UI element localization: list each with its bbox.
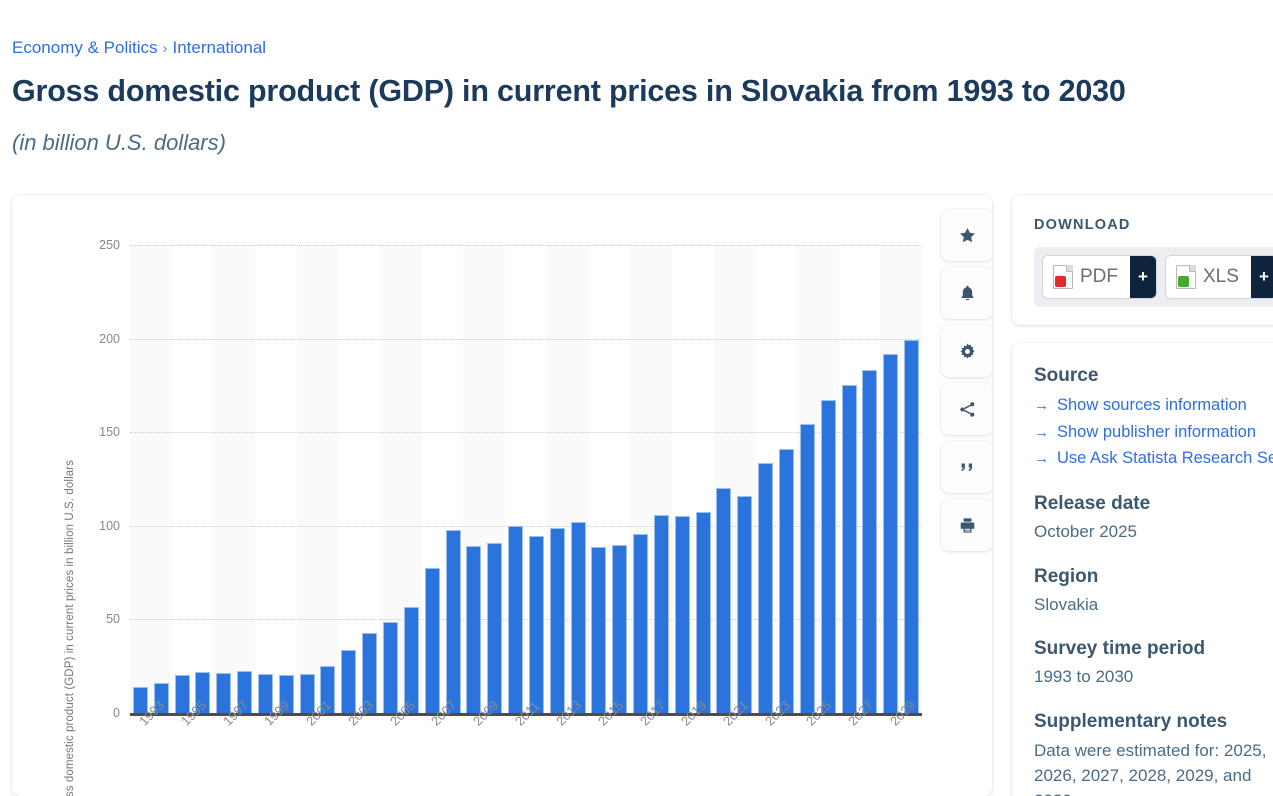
chart-bar[interactable] [675,516,690,713]
chart-bar[interactable] [466,546,481,713]
download-pdf-button[interactable]: PDF + [1043,256,1156,298]
plot-band [297,245,339,713]
print-button[interactable] [941,499,992,551]
chart-bar[interactable] [821,400,836,713]
chart-bar[interactable] [341,650,356,713]
share-button[interactable] [941,383,992,435]
quote-icon [958,458,977,477]
chart-bar[interactable] [487,543,502,713]
plot-band [130,245,172,713]
pdf-file-icon [1053,265,1073,289]
chart-bar[interactable] [716,488,731,713]
chart-bar[interactable] [737,496,752,713]
source-heading: Source [1034,365,1273,387]
y-axis-tick-label: 200 [80,332,120,346]
chart-bar[interactable] [612,545,627,713]
chart-bar[interactable] [571,522,586,713]
release-date-value: October 2025 [1034,520,1273,545]
y-axis-tick-label: 50 [80,612,120,626]
download-xls-button[interactable]: XLS + [1166,256,1273,298]
page-title: Gross domestic product (GDP) in current … [12,74,1273,109]
chart-bar[interactable] [654,515,669,713]
release-date-heading: Release date [1034,493,1273,515]
gear-icon [958,342,977,361]
show-publisher-information-label: Show publisher information [1057,419,1256,446]
page-subtitle: (in billion U.S. dollars) [12,130,1273,156]
download-button-strip: PDF + XLS + [1034,247,1273,307]
download-xls-main[interactable]: XLS [1166,256,1251,298]
chart-bar[interactable] [883,354,898,713]
chart-bar[interactable] [550,528,565,714]
gridline [130,245,922,246]
gridline [130,339,922,340]
download-xls-label: XLS [1203,266,1239,288]
region-heading: Region [1034,566,1273,588]
sidebar: DOWNLOAD PDF + [1012,195,1273,796]
plot-area [130,245,922,713]
favorite-button[interactable] [941,209,992,261]
breadcrumb-item-economy-politics[interactable]: Economy & Politics [12,38,158,57]
share-icon [958,400,977,419]
chart-tool-rail [941,209,992,557]
download-pdf-main[interactable]: PDF [1043,256,1130,298]
breadcrumb: Economy & Politics›International [12,38,1273,58]
y-axis-tick-label: 250 [80,238,120,252]
chart-bar[interactable] [591,547,606,713]
content-area: Gross domestic product (GDP) in current … [0,195,1273,796]
y-axis-tick-label: 100 [80,519,120,533]
breadcrumb-separator: › [163,40,168,57]
arrow-right-icon: → [1034,394,1049,418]
bell-icon [958,284,977,303]
arrow-right-icon: → [1034,447,1049,471]
show-publisher-information-link[interactable]: → Show publisher information [1034,419,1273,446]
region-value: Slovakia [1034,593,1273,618]
breadcrumb-item-international[interactable]: International [173,38,267,57]
download-xls-plus[interactable]: + [1251,256,1273,298]
chart-bar[interactable] [529,536,544,713]
favorite-icon [958,226,977,245]
chart-bar[interactable] [696,512,711,713]
plot-band [213,245,255,713]
download-pdf-plus[interactable]: + [1130,256,1156,298]
citation-button[interactable] [941,441,992,493]
x-axis-labels: 1993199519971999200120032005200720092011… [130,718,922,788]
ask-statista-research-service-label: Use Ask Statista Research Service [1057,445,1273,472]
xls-file-icon [1176,265,1196,289]
chart-bar[interactable] [633,534,648,713]
chart-bar[interactable] [842,385,857,713]
page-header: Economy & Politics›International Gross d… [0,0,1273,156]
y-axis-tick-label: 150 [80,425,120,439]
y-axis-tick-label: 0 [80,706,120,720]
survey-period-value: 1993 to 2030 [1034,665,1273,690]
chart-card: Gross domestic product (GDP) in current … [12,195,992,796]
print-icon [958,516,977,535]
download-card: DOWNLOAD PDF + [1012,195,1273,325]
notifications-button[interactable] [941,267,992,319]
download-pdf-label: PDF [1080,266,1118,288]
chart-bar[interactable] [779,449,794,713]
chart-bar[interactable] [425,568,440,713]
show-sources-information-label: Show sources information [1057,392,1247,419]
chart-bar[interactable] [904,340,919,713]
chart-bar[interactable] [508,526,523,713]
settings-button[interactable] [941,325,992,377]
download-heading: DOWNLOAD [1034,217,1273,233]
statista-chart-page: Economy & Politics›International Gross d… [0,0,1273,796]
chart-bar[interactable] [383,622,398,713]
show-sources-information-link[interactable]: → Show sources information [1034,392,1273,419]
chart-bar[interactable] [758,463,773,713]
chart-bar[interactable] [800,424,815,713]
chart-plot-wrapper: Gross domestic product (GDP) in current … [12,195,992,796]
arrow-right-icon: → [1034,421,1049,445]
y-axis-ticks: 050100150200250 [52,195,120,796]
ask-statista-research-service-link[interactable]: → Use Ask Statista Research Service [1034,445,1273,472]
chart-bar[interactable] [862,370,877,713]
supplementary-notes-value: Data were estimated for: 2025, 2026, 202… [1034,738,1273,796]
chart-bar[interactable] [446,530,461,713]
chart-bar[interactable] [216,673,231,713]
survey-period-heading: Survey time period [1034,638,1273,660]
info-card: Source → Show sources information → Show… [1012,343,1273,796]
supplementary-notes-heading: Supplementary notes [1034,711,1273,733]
